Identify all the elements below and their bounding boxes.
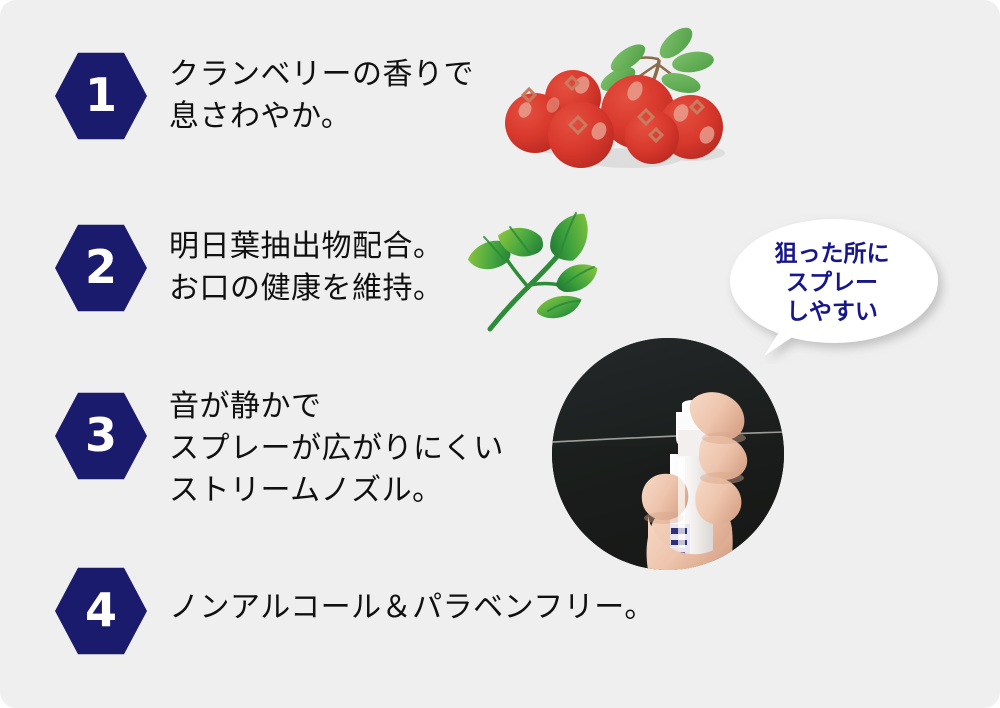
step-badge-2: 2 — [55, 222, 147, 314]
feature-row-4: 4 ノンアルコール＆パラベンフリー。 — [55, 565, 655, 657]
step-badge-number: 4 — [85, 587, 117, 633]
feature-text-4: ノンアルコール＆パラベンフリー。 — [169, 587, 655, 629]
step-badge-number: 3 — [85, 412, 117, 458]
ashitaba-leaf-illustration-icon — [468, 203, 608, 345]
feature-text-1: クランベリーの香りで 息さわやか。 — [169, 54, 474, 138]
callout-bubble: 狙った所に スプレー しやすい — [726, 214, 954, 364]
feature-text-3: 音が静かで スプレーが広がりにくい ストリームノズル。 — [169, 386, 504, 512]
step-badge-3: 3 — [55, 390, 147, 482]
feature-row-1: 1 クランベリーの香りで 息さわやか。 — [55, 50, 474, 142]
step-badge-1: 1 — [55, 50, 147, 142]
spray-bottle-photo — [552, 338, 784, 570]
feature-text-2: 明日葉抽出物配合。 お口の健康を維持。 — [169, 226, 444, 310]
step-badge-number: 2 — [85, 244, 117, 290]
feature-list-panel: 1 クランベリーの香りで 息さわやか。 2 明日葉抽出物配合。 お口の健康を維持… — [0, 0, 1000, 708]
step-badge-number: 1 — [85, 72, 117, 118]
cranberry-illustration-icon — [495, 25, 745, 185]
callout-text: 狙った所に スプレー しやすい — [726, 240, 938, 327]
step-badge-4: 4 — [55, 565, 147, 657]
feature-row-3: 3 音が静かで スプレーが広がりにくい ストリームノズル。 — [55, 390, 504, 512]
feature-row-2: 2 明日葉抽出物配合。 お口の健康を維持。 — [55, 222, 444, 314]
